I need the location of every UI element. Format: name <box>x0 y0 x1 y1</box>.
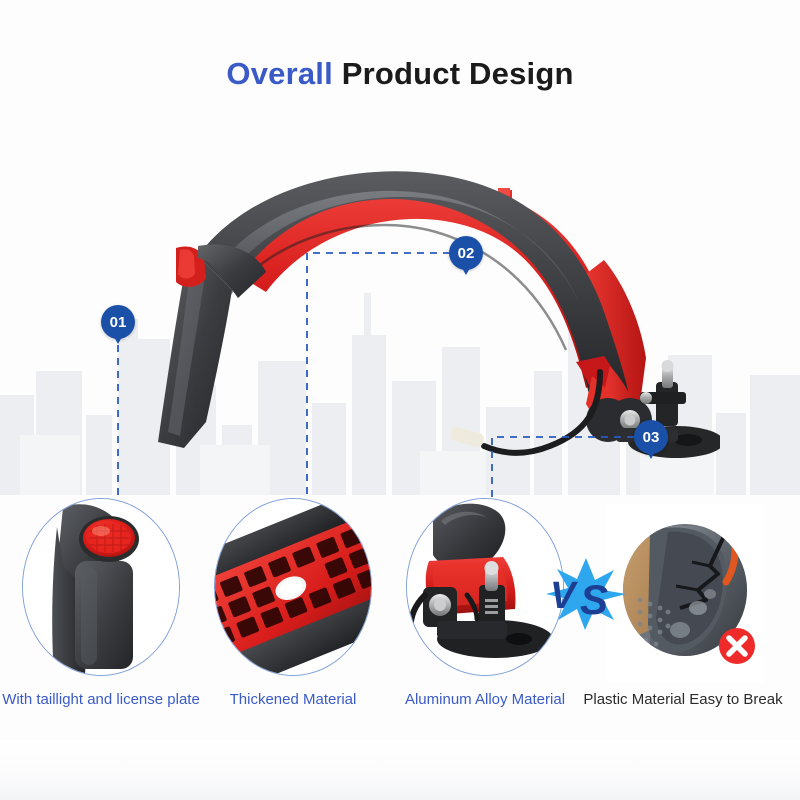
title-accent: Overall <box>226 56 333 91</box>
feature-caption-3: Aluminum Alloy Material <box>380 690 590 710</box>
feature-caption-2: Thickened Material <box>188 690 398 710</box>
feature-thumb-thickened[interactable] <box>200 498 386 680</box>
infographic-page: Overall Product Design <box>0 0 800 800</box>
aluminum-bracket-image <box>407 499 564 676</box>
thumb-oval-frame-2 <box>214 498 372 676</box>
callout-badge-02[interactable]: 02 <box>449 236 483 270</box>
page-title: Overall Product Design <box>0 58 800 89</box>
thumb-oval-frame-3 <box>406 498 564 676</box>
red-ribbed-structure-image <box>215 499 372 676</box>
feature-caption-4: Plastic Material Easy to Break <box>578 690 788 710</box>
thumb-oval-frame-1 <box>22 498 180 676</box>
feature-caption-1: With taillight and license plate <box>0 690 206 710</box>
feature-thumb-taillight[interactable] <box>8 498 194 680</box>
callout-badge-03[interactable]: 03 <box>634 420 668 454</box>
feature-thumbnail-row <box>0 498 800 698</box>
title-main: Product Design <box>333 56 574 91</box>
svg-text:V: V <box>550 575 578 617</box>
cross-icon <box>718 627 756 665</box>
versus-icon: V S <box>546 558 626 630</box>
callout-badge-01[interactable]: 01 <box>101 305 135 339</box>
svg-text:S: S <box>580 576 608 623</box>
taillight-reflector-image <box>23 499 180 676</box>
